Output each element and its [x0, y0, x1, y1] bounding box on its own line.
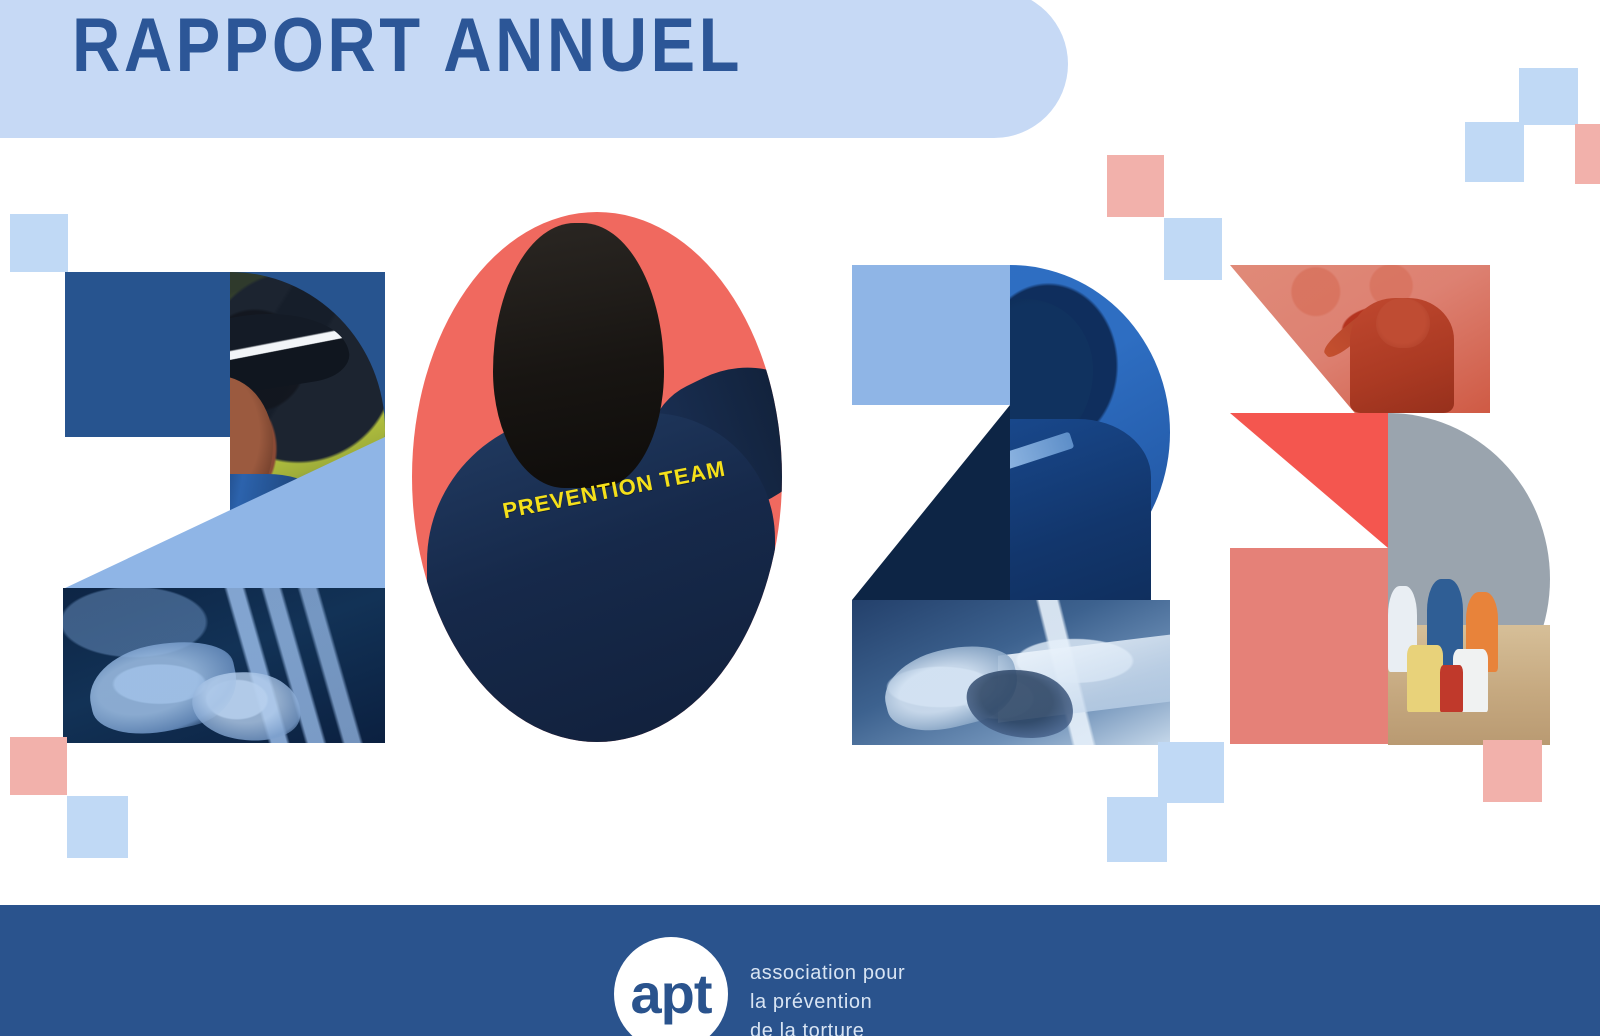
tagline-line-2: la prévention: [750, 988, 905, 1017]
seated-group-photo: [1388, 413, 1550, 745]
digit-2b-top-square: [852, 265, 1010, 405]
deco-square-bottom-left-blue: [67, 796, 128, 858]
apt-logo: apt association pour la prévention de la…: [614, 937, 905, 1036]
deco-square-top-right-pink: [1575, 124, 1600, 184]
digit-3-bottom-square: [1230, 548, 1388, 744]
deco-square-upper-mid-pink: [1107, 155, 1164, 217]
deco-square-top-right-blue-b: [1465, 122, 1524, 182]
footer-bar: apt association pour la prévention de la…: [0, 905, 1600, 1036]
hands-navy-photo: [63, 588, 385, 743]
annual-report-cover: PREVENTION TEAM: [0, 0, 1600, 1036]
tagline-line-3: de la torture: [750, 1017, 905, 1036]
deco-square-low-right-pink: [1483, 740, 1542, 802]
logo-circle-icon: apt: [614, 937, 728, 1036]
deco-square-top-right-blue-a: [1519, 68, 1578, 125]
prevention-team-photo: PREVENTION TEAM: [412, 212, 782, 742]
deco-square-top-left-blue: [10, 214, 68, 272]
deco-square-upper-mid-blue: [1164, 218, 1222, 280]
deco-square-low-right-blue-a: [1158, 742, 1224, 803]
woman-writing-photo: [1010, 265, 1170, 600]
deco-square-low-right-blue-b: [1107, 797, 1167, 862]
page-title: RAPPORT ANNUEL: [72, 2, 743, 89]
logo-tagline: association pour la prévention de la tor…: [750, 937, 905, 1036]
hands-desk-photo: [852, 600, 1170, 745]
digit-2b-diagonal-triangle: [852, 405, 1010, 600]
digit-2-diagonal-triangle: [63, 437, 385, 589]
digit-3-middle-triangle: [1230, 413, 1388, 548]
tagline-line-1: association pour: [750, 959, 905, 988]
header-pill: RAPPORT ANNUEL: [0, 0, 1068, 138]
deco-square-mid-left-pink: [10, 737, 67, 795]
logo-wordmark: apt: [631, 966, 712, 1022]
workshop-woman-photo: [1230, 265, 1490, 413]
hair: [493, 223, 663, 488]
